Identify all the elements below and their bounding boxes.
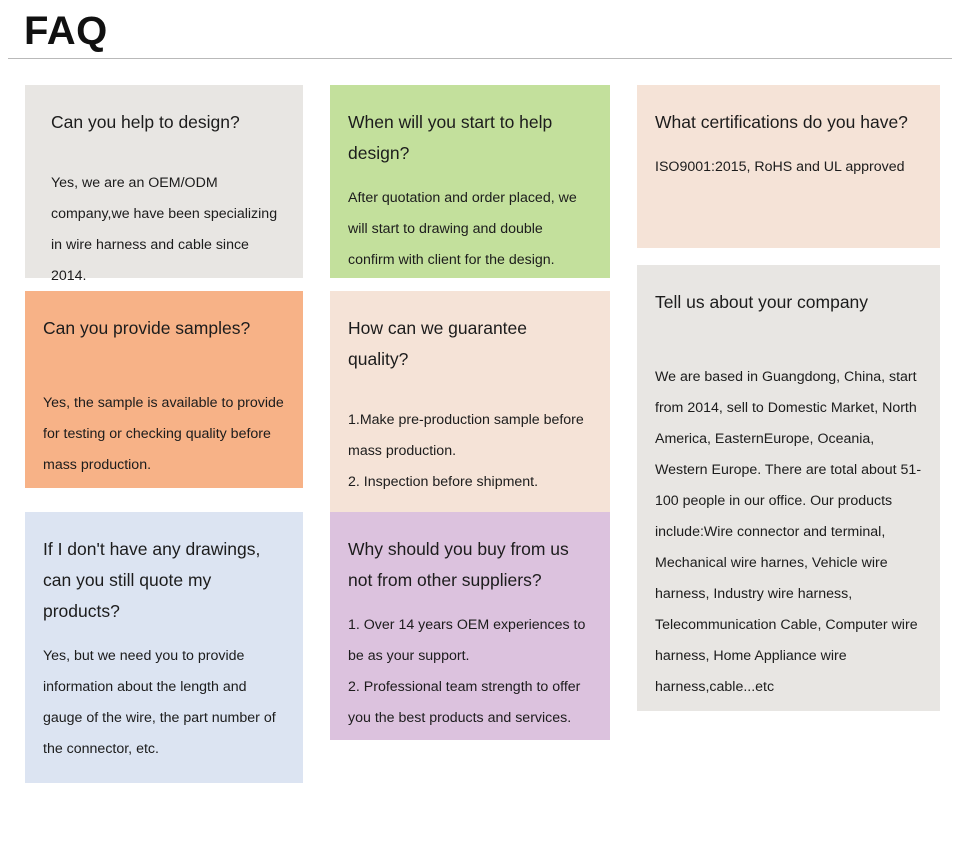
faq-answer-line-1: 1. Over 14 years OEM experiences to be a… <box>348 610 592 672</box>
spacer <box>348 169 592 183</box>
spacer <box>655 318 922 362</box>
page-title: FAQ <box>24 8 108 54</box>
faq-question: How can we guarantee quality? <box>348 313 592 375</box>
faq-answer: Yes, but we need you to provide informat… <box>43 641 285 765</box>
spacer <box>43 627 285 641</box>
faq-card-company: Tell us about your company We are based … <box>637 265 940 711</box>
faq-card-certifications: What certifications do you have? ISO9001… <box>637 85 940 248</box>
faq-question: Can you provide samples? <box>43 313 285 344</box>
faq-question: Can you help to design? <box>43 107 285 138</box>
faq-answer: Yes, the sample is available to provide … <box>43 388 285 481</box>
faq-card-samples: Can you provide samples? Yes, the sample… <box>25 291 303 488</box>
spacer <box>43 138 285 168</box>
faq-card-start-design: When will you start to help design? Afte… <box>330 85 610 278</box>
faq-question: Why should you buy from us not from othe… <box>348 534 592 596</box>
spacer <box>43 344 285 388</box>
faq-answer: Yes, we are an OEM/ODM company,we have b… <box>43 168 285 292</box>
faq-answer-line-2: 2. Professional team strength to offer y… <box>348 672 592 734</box>
faq-answer: After quotation and order placed, we wil… <box>348 183 592 276</box>
faq-answer: We are based in Guangdong, China, start … <box>655 362 922 703</box>
faq-card-why-buy: Why should you buy from us not from othe… <box>330 512 610 740</box>
header-divider <box>8 58 952 59</box>
faq-card-design: Can you help to design? Yes, we are an O… <box>25 85 303 278</box>
faq-page: FAQ Can you help to design? Yes, we are … <box>0 0 960 842</box>
faq-card-grid: Can you help to design? Yes, we are an O… <box>0 60 960 842</box>
spacer <box>348 596 592 610</box>
faq-card-drawings: If I don't have any drawings, can you st… <box>25 512 303 783</box>
faq-question: What certifications do you have? <box>655 107 922 138</box>
faq-answer-line-1: 1.Make pre-production sample before mass… <box>348 405 592 467</box>
faq-question: If I don't have any drawings, can you st… <box>43 534 285 627</box>
faq-answer-line-2: 2. Inspection before shipment. <box>348 467 592 498</box>
spacer <box>655 138 922 152</box>
faq-answer: ISO9001:2015, RoHS and UL approved <box>655 152 922 183</box>
faq-question: Tell us about your company <box>655 287 922 318</box>
page-header: FAQ <box>0 0 960 60</box>
faq-question: When will you start to help design? <box>348 107 592 169</box>
spacer <box>348 375 592 405</box>
